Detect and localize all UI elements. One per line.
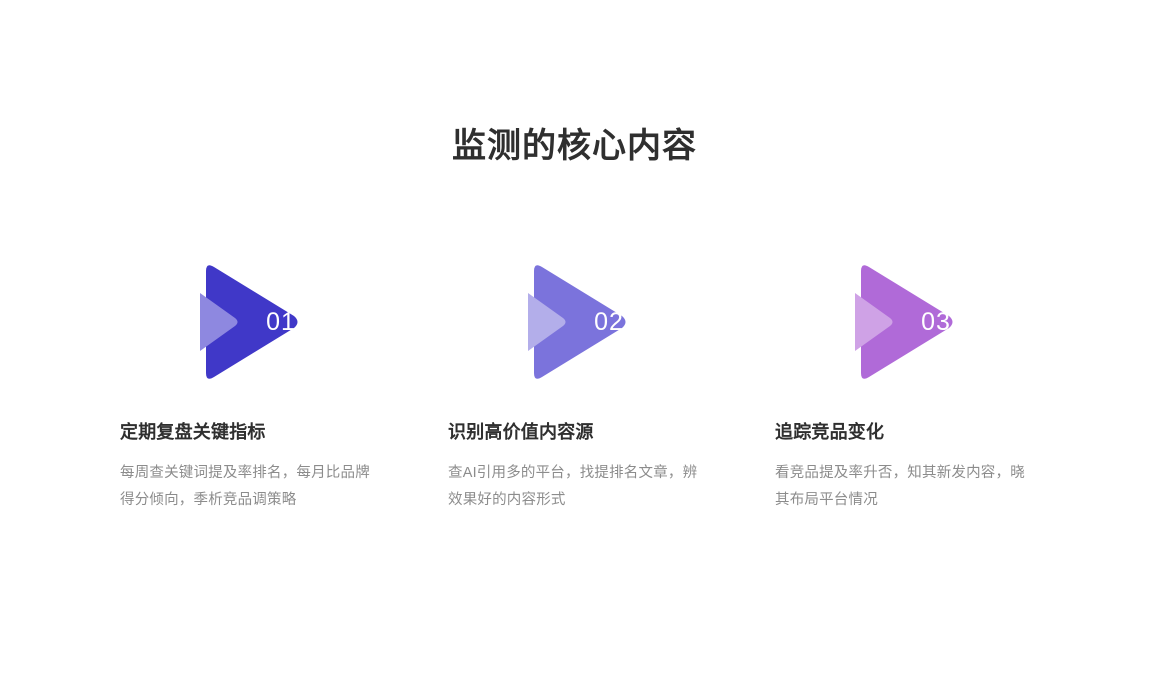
item-heading: 识别高价值内容源	[448, 420, 718, 445]
content-item: 03 追踪竞品变化 看竞品提及率升否，知其新发内容，晓其布局平台情况	[775, 262, 1075, 514]
item-text-block: 追踪竞品变化 看竞品提及率升否，知其新发内容，晓其布局平台情况	[775, 420, 1045, 514]
play-arrow-icon	[855, 262, 1035, 382]
play-arrow-icon	[528, 262, 708, 382]
play-arrow-icon	[200, 262, 380, 382]
item-description: 每周查关键词提及率排名，每月比品牌得分倾向，季析竞品调策略	[120, 460, 378, 514]
item-text-block: 识别高价值内容源 查AI引用多的平台，找提排名文章，辨效果好的内容形式	[448, 420, 718, 514]
item-description: 查AI引用多的平台，找提排名文章，辨效果好的内容形式	[448, 460, 706, 514]
arrow-graphic: 01	[200, 262, 380, 382]
content-item: 01 定期复盘关键指标 每周查关键词提及率排名，每月比品牌得分倾向，季析竞品调策…	[120, 262, 420, 514]
item-text-block: 定期复盘关键指标 每周查关键词提及率排名，每月比品牌得分倾向，季析竞品调策略	[120, 420, 390, 514]
content-item: 02 识别高价值内容源 查AI引用多的平台，找提排名文章，辨效果好的内容形式	[448, 262, 748, 514]
arrow-graphic: 03	[855, 262, 1035, 382]
slide-canvas: 监测的核心内容 01 定期复盘关键指标 每周查关键词提及率排名，每月比品牌得分倾…	[0, 0, 1149, 681]
items-container: 01 定期复盘关键指标 每周查关键词提及率排名，每月比品牌得分倾向，季析竞品调策…	[0, 0, 1149, 681]
item-description: 看竞品提及率升否，知其新发内容，晓其布局平台情况	[775, 460, 1033, 514]
item-heading: 追踪竞品变化	[775, 420, 1045, 445]
item-heading: 定期复盘关键指标	[120, 420, 390, 445]
arrow-graphic: 02	[528, 262, 708, 382]
